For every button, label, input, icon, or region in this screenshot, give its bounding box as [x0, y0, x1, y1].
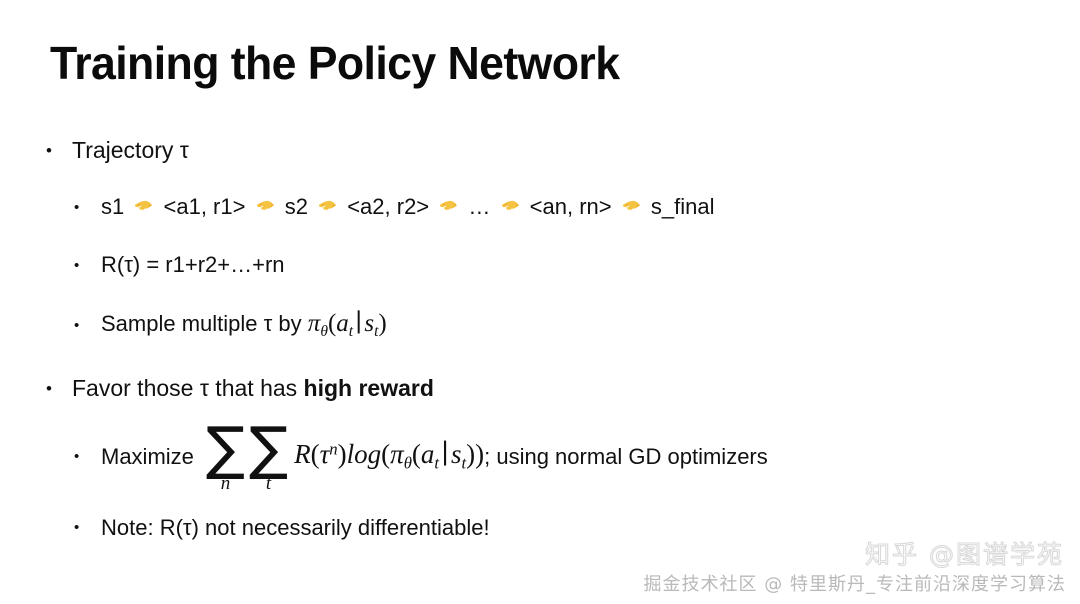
bullet-return-label: R(τ) = r1+r2+…+rn [101, 251, 1080, 279]
pi-symbol: π [308, 310, 321, 337]
bullet-favor-label: Favor those τ that has high reward [72, 374, 1080, 403]
chain-segment-sfinal: s_final [651, 194, 715, 219]
pointing-right-hand-icon [438, 195, 459, 216]
slide-body: • Trajectory τ • s1 <a1, r1> [0, 128, 1080, 549]
paren-open-2: ( [381, 439, 390, 469]
objective-expression: R(τn)log(πθ(at∣st)) [294, 438, 484, 474]
paren-open-1: ( [311, 439, 320, 469]
chain-segment-anrn: <an, rn> [530, 194, 612, 219]
pointing-right-hand-icon [133, 195, 154, 216]
chain-segment-s2: s2 [285, 194, 308, 219]
bullet-trajectory-chain: • s1 <a1, r1> [0, 186, 1080, 228]
bullet-maximize-label: Maximize ∑ n ∑ t R(τn)log(πθ(at∣st)) ; u… [101, 422, 1080, 491]
paren-close-2: ) [475, 439, 484, 469]
summation-over-n: ∑ n [206, 424, 245, 493]
action-symbol: a [336, 310, 349, 337]
chain-segment-a1r1: <a1, r1> [164, 194, 246, 219]
paren-close: ) [378, 310, 386, 337]
bullet-note: • Note: R(τ) not necessarily differentia… [0, 507, 1080, 549]
bullet-trajectory: • Trajectory τ [0, 128, 1080, 172]
sample-lead-text: Sample multiple τ by [101, 311, 308, 336]
tau-superscript-n: n [329, 440, 337, 459]
pointing-right-hand-icon [621, 195, 642, 216]
chain-segment-s1: s1 [101, 194, 124, 219]
chain-segment-ellipsis: … [468, 194, 490, 219]
summation-index-t: t [266, 474, 271, 493]
maximize-keyword: Maximize [101, 443, 194, 471]
summation-index-n: n [221, 474, 231, 493]
conditional-bar: ∣ [439, 439, 451, 469]
state-symbol: s [451, 439, 462, 469]
state-symbol: s [364, 310, 374, 337]
paren-close-1: ) [338, 439, 347, 469]
paren-open-3: ( [412, 439, 421, 469]
return-symbol: R [294, 439, 311, 469]
sigma-icon: ∑ [249, 424, 288, 473]
bullet-favor: • Favor those τ that has high reward [0, 366, 1080, 410]
sigma-icon: ∑ [206, 424, 245, 473]
bullet-marker: • [74, 258, 101, 273]
pointing-right-hand-icon [317, 195, 338, 216]
bullet-note-label: Note: R(τ) not necessarily differentiabl… [101, 514, 1080, 542]
policy-formula: πθ(at∣st) [308, 310, 387, 337]
pointing-right-hand-icon [500, 195, 521, 216]
bullet-sample: • Sample multiple τ by πθ(at∣st) [0, 304, 1080, 346]
conditional-bar: ∣ [353, 310, 364, 337]
bullet-marker: • [74, 200, 101, 215]
bullet-marker: • [46, 380, 72, 397]
bullet-marker: • [74, 449, 101, 464]
juejin-watermark: 掘金技术社区 @ 特里斯丹_专注前沿深度学习算法 [644, 570, 1066, 596]
bullet-return: • R(τ) = r1+r2+…+rn [0, 244, 1080, 286]
theta-subscript: θ [320, 323, 328, 340]
favor-emphasis-text: high reward [304, 375, 434, 401]
bullet-marker: • [74, 520, 101, 535]
bullet-chain-label: s1 <a1, r1> [101, 193, 1080, 221]
action-symbol: a [421, 439, 435, 469]
bullet-trajectory-label: Trajectory τ [72, 136, 1080, 165]
bullet-marker: • [74, 318, 101, 333]
tau-symbol: τ [320, 439, 330, 469]
chain-segment-a2r2: <a2, r2> [347, 194, 429, 219]
paren-close-3: ) [466, 439, 475, 469]
bullet-marker: • [46, 142, 72, 159]
favor-lead-text: Favor those τ that has [72, 375, 304, 401]
bullet-sample-label: Sample multiple τ by πθ(at∣st) [101, 308, 1080, 341]
bullet-maximize: • Maximize ∑ n ∑ t R(τn)log(πθ(at∣st)) ;… [0, 422, 1080, 491]
pi-symbol: π [390, 439, 404, 469]
objective-equation: Maximize ∑ n ∑ t R(τn)log(πθ(at∣st)) ; u… [101, 422, 1080, 491]
page-title: Training the Policy Network [50, 38, 619, 89]
optimizer-note: ; using normal GD optimizers [484, 443, 768, 471]
slide-canvas: Training the Policy Network • Trajectory… [0, 0, 1080, 604]
theta-subscript: θ [404, 454, 412, 473]
summation-over-t: ∑ t [249, 424, 288, 493]
log-operator: log [347, 439, 382, 469]
pointing-right-hand-icon [255, 195, 276, 216]
